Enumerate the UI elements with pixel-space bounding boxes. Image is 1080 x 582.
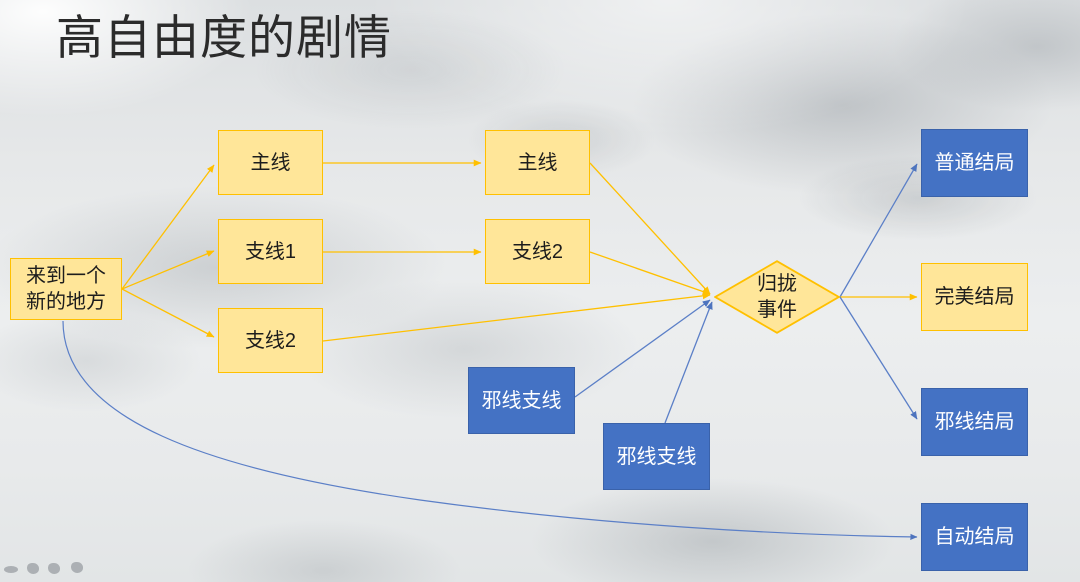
node-branch-2b[interactable]: 支线2 [485, 219, 590, 284]
page-title: 高自由度的剧情 [56, 6, 392, 70]
node-branch-2b-label: 支线2 [512, 239, 563, 265]
background-figure-1 [4, 566, 18, 573]
node-ending-perfect-label: 完美结局 [935, 284, 1015, 310]
node-main-1-label: 主线 [251, 150, 291, 176]
node-ending-normal-label: 普通结局 [935, 150, 1015, 176]
background-figure-2 [27, 563, 39, 574]
node-gather-event-label: 归拢 事件 [757, 271, 797, 323]
node-start[interactable]: 来到一个 新的地方 [10, 258, 122, 320]
node-evil-branch-2[interactable]: 邪线支线 [603, 423, 710, 490]
node-ending-auto-label: 自动结局 [935, 524, 1015, 550]
node-main-1[interactable]: 主线 [218, 130, 323, 195]
slide-canvas: 高自由度的剧情 来到一个 新的地方 [0, 0, 1080, 582]
node-gather-event[interactable]: 归拢 事件 [714, 260, 840, 334]
node-ending-evil-label: 邪线结局 [935, 409, 1015, 435]
node-branch-2a[interactable]: 支线2 [218, 308, 323, 373]
node-evil-branch-1-label: 邪线支线 [482, 388, 562, 414]
node-ending-normal[interactable]: 普通结局 [921, 129, 1028, 197]
background-figure-3 [48, 563, 60, 574]
node-main-2[interactable]: 主线 [485, 130, 590, 195]
node-main-2-label: 主线 [518, 150, 558, 176]
node-ending-perfect[interactable]: 完美结局 [921, 263, 1028, 331]
node-evil-branch-2-label: 邪线支线 [617, 444, 697, 470]
node-evil-branch-1[interactable]: 邪线支线 [468, 367, 575, 434]
node-ending-evil[interactable]: 邪线结局 [921, 388, 1028, 456]
node-branch-1[interactable]: 支线1 [218, 219, 323, 284]
node-start-label: 来到一个 新的地方 [26, 263, 106, 315]
node-branch-2a-label: 支线2 [245, 328, 296, 354]
background-image [0, 0, 1080, 582]
node-branch-1-label: 支线1 [245, 239, 296, 265]
node-ending-auto[interactable]: 自动结局 [921, 503, 1028, 571]
background-figure-4 [71, 562, 83, 573]
